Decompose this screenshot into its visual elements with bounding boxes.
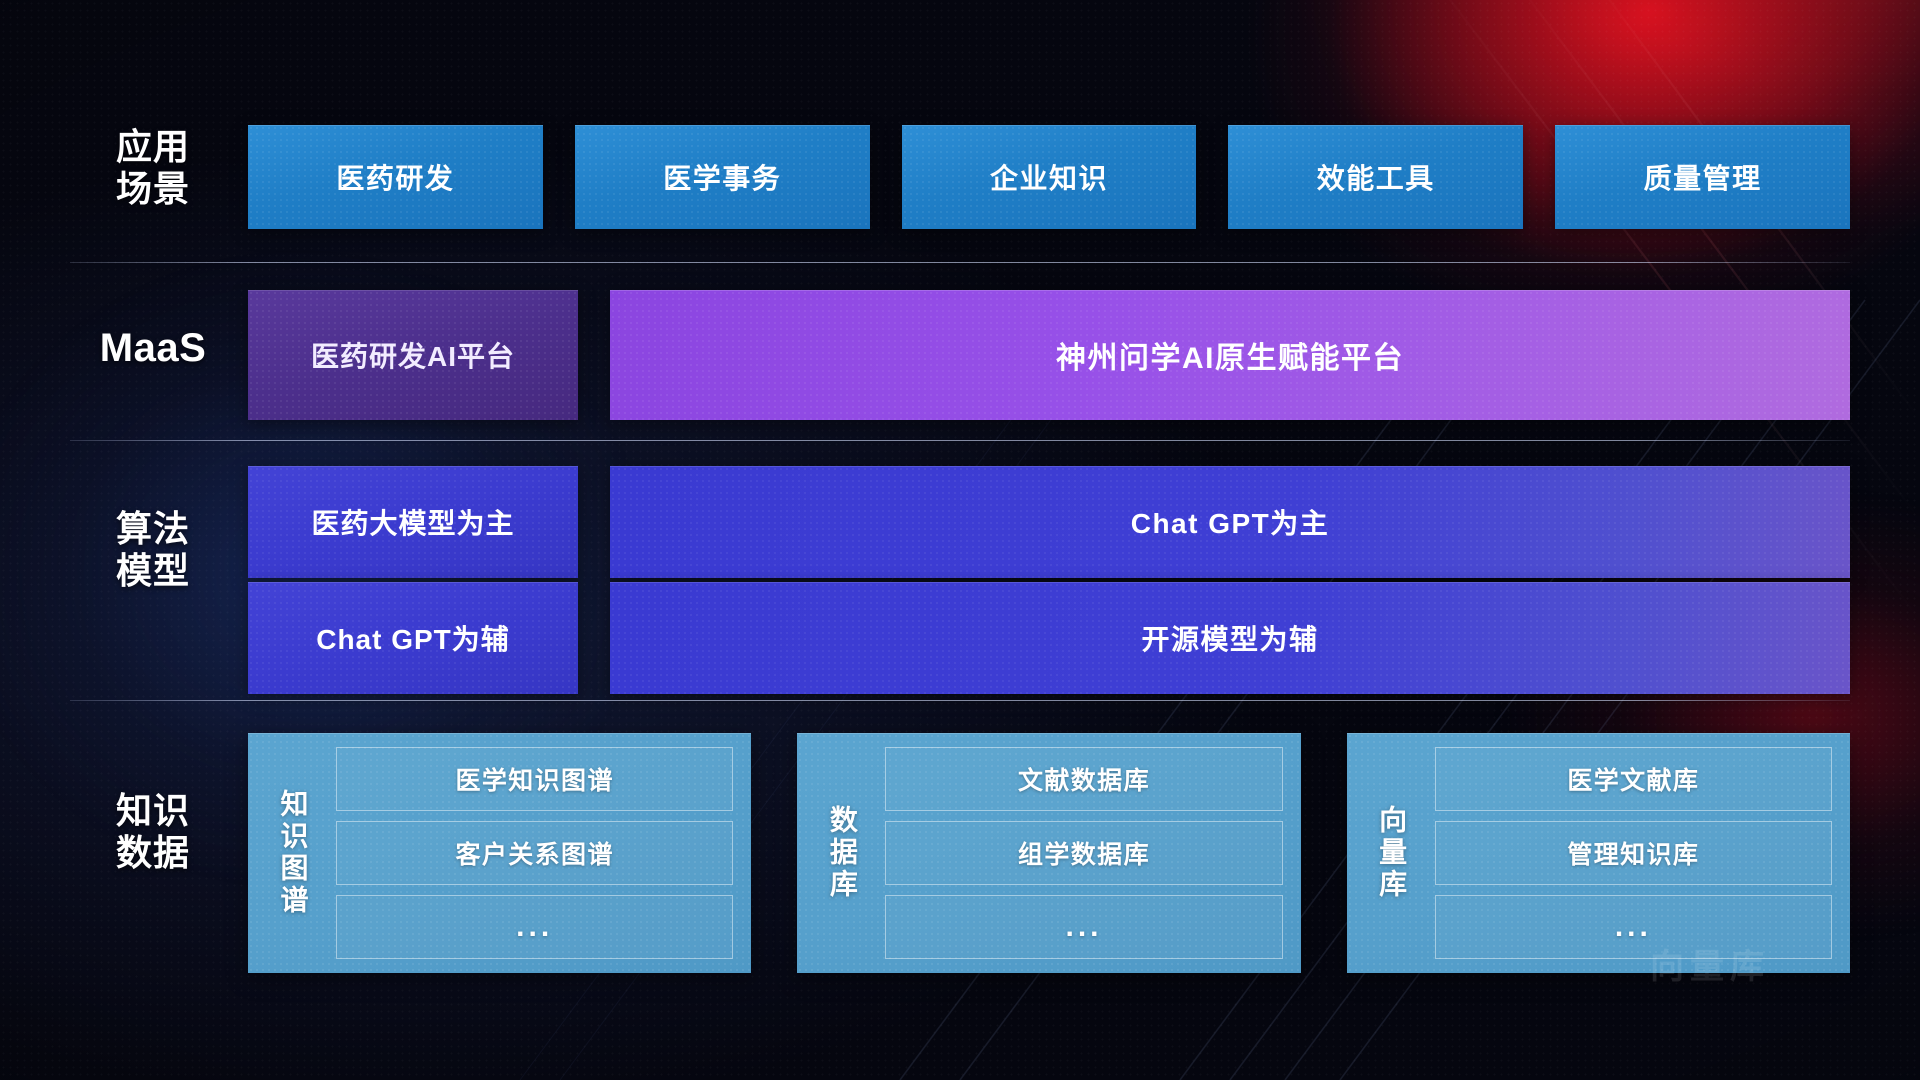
knowledge-item-management-knowledge-store[interactable]: 管理知识库: [1435, 821, 1832, 885]
algo-box-label: Chat GPT为辅: [316, 618, 510, 658]
knowledge-card-vector-store[interactable]: 向量库 医学文献库 管理知识库 ...: [1347, 733, 1850, 973]
knowledge-item-more[interactable]: ...: [885, 895, 1282, 959]
knowledge-item-label: 客户关系图谱: [455, 835, 613, 871]
divider-maas-algorithm: [70, 440, 1850, 441]
row-label-algorithm-line1: 算法: [88, 508, 218, 550]
app-box-enterprise-knowledge[interactable]: 企业知识: [902, 125, 1197, 229]
knowledge-card-database[interactable]: 数据库 文献数据库 组学数据库 ...: [797, 733, 1300, 973]
knowledge-item-literature-database[interactable]: 文献数据库: [885, 747, 1282, 811]
maas-box-label: 神州问学AI原生赋能平台: [1056, 333, 1404, 377]
knowledge-item-customer-relation-graph[interactable]: 客户关系图谱: [336, 821, 733, 885]
knowledge-item-label: ...: [1065, 910, 1102, 944]
app-box-drug-rd[interactable]: 医药研发: [248, 125, 543, 229]
app-box-label: 质量管理: [1644, 157, 1762, 197]
maas-box-track: 医药研发AI平台 神州问学AI原生赋能平台: [248, 290, 1850, 420]
knowledge-item-label: 文献数据库: [1018, 761, 1150, 797]
algo-box-chatgpt-secondary[interactable]: Chat GPT为辅: [248, 582, 578, 694]
maas-box-label: 医药研发AI平台: [311, 335, 515, 375]
algo-box-chatgpt-primary[interactable]: Chat GPT为主: [610, 466, 1850, 578]
row-label-maas-line1: MaaS: [88, 325, 218, 371]
knowledge-item-label: ...: [516, 910, 553, 944]
knowledge-item-label: 医学文献库: [1567, 761, 1699, 797]
knowledge-card-item-list: 医学知识图谱 客户关系图谱 ...: [336, 747, 733, 959]
algo-box-label: 开源模型为辅: [1141, 618, 1318, 658]
knowledge-item-label: 管理知识库: [1567, 835, 1699, 871]
row-label-knowledge-line2: 数据: [88, 832, 218, 874]
algo-box-label: 医药大模型为主: [311, 502, 514, 542]
knowledge-item-label: 医学知识图谱: [455, 761, 613, 797]
row-label-application-line1: 应用: [88, 126, 218, 168]
algo-box-opensource-secondary[interactable]: 开源模型为辅: [610, 582, 1850, 694]
app-box-label: 效能工具: [1317, 157, 1435, 197]
maas-box-shenzhou-wenxue-platform[interactable]: 神州问学AI原生赋能平台: [610, 290, 1850, 420]
app-box-efficiency-tools[interactable]: 效能工具: [1228, 125, 1523, 229]
row-label-maas: MaaS: [88, 325, 218, 371]
architecture-diagram: 应用 场景 医药研发 医学事务 企业知识 效能工具 质量管理 MaaS 医药研发…: [0, 0, 1920, 1080]
knowledge-card-knowledge-graph[interactable]: 知识图谱 医学知识图谱 客户关系图谱 ...: [248, 733, 751, 973]
algo-box-label: Chat GPT为主: [1131, 502, 1330, 542]
knowledge-item-label: 组学数据库: [1018, 835, 1150, 871]
knowledge-item-label: ...: [1615, 910, 1652, 944]
divider-application-maas: [70, 262, 1850, 263]
row-label-application: 应用 场景: [88, 126, 218, 210]
app-box-quality-management[interactable]: 质量管理: [1555, 125, 1850, 229]
knowledge-item-more[interactable]: ...: [1435, 895, 1832, 959]
row-label-algorithm: 算法 模型: [88, 508, 218, 592]
knowledge-item-medical-knowledge-graph[interactable]: 医学知识图谱: [336, 747, 733, 811]
row-label-algorithm-line2: 模型: [88, 550, 218, 592]
knowledge-card-track: 知识图谱 医学知识图谱 客户关系图谱 ... 数据库 文献数据库 组学数据库 .…: [248, 733, 1850, 973]
algorithm-box-track-primary: 医药大模型为主 Chat GPT为主: [248, 466, 1850, 578]
row-label-knowledge: 知识 数据: [88, 790, 218, 874]
knowledge-card-title: 数据库: [811, 747, 873, 959]
algorithm-box-track-secondary: Chat GPT为辅 开源模型为辅: [248, 582, 1850, 694]
knowledge-item-more[interactable]: ...: [336, 895, 733, 959]
knowledge-card-title: 知识图谱: [262, 747, 324, 959]
knowledge-item-medical-literature-store[interactable]: 医学文献库: [1435, 747, 1832, 811]
application-box-track: 医药研发 医学事务 企业知识 效能工具 质量管理: [248, 125, 1850, 229]
maas-box-drug-rd-ai-platform[interactable]: 医药研发AI平台: [248, 290, 578, 420]
app-box-label: 医药研发: [336, 157, 454, 197]
knowledge-card-item-list: 文献数据库 组学数据库 ...: [885, 747, 1282, 959]
knowledge-card-item-list: 医学文献库 管理知识库 ...: [1435, 747, 1832, 959]
row-label-application-line2: 场景: [88, 168, 218, 210]
app-box-label: 医学事务: [663, 157, 781, 197]
algo-box-drug-large-model-primary[interactable]: 医药大模型为主: [248, 466, 578, 578]
knowledge-card-title: 向量库: [1361, 747, 1423, 959]
app-box-label: 企业知识: [990, 157, 1108, 197]
divider-algorithm-knowledge: [70, 700, 1850, 701]
knowledge-item-omics-database[interactable]: 组学数据库: [885, 821, 1282, 885]
row-label-knowledge-line1: 知识: [88, 790, 218, 832]
app-box-medical-affairs[interactable]: 医学事务: [575, 125, 870, 229]
